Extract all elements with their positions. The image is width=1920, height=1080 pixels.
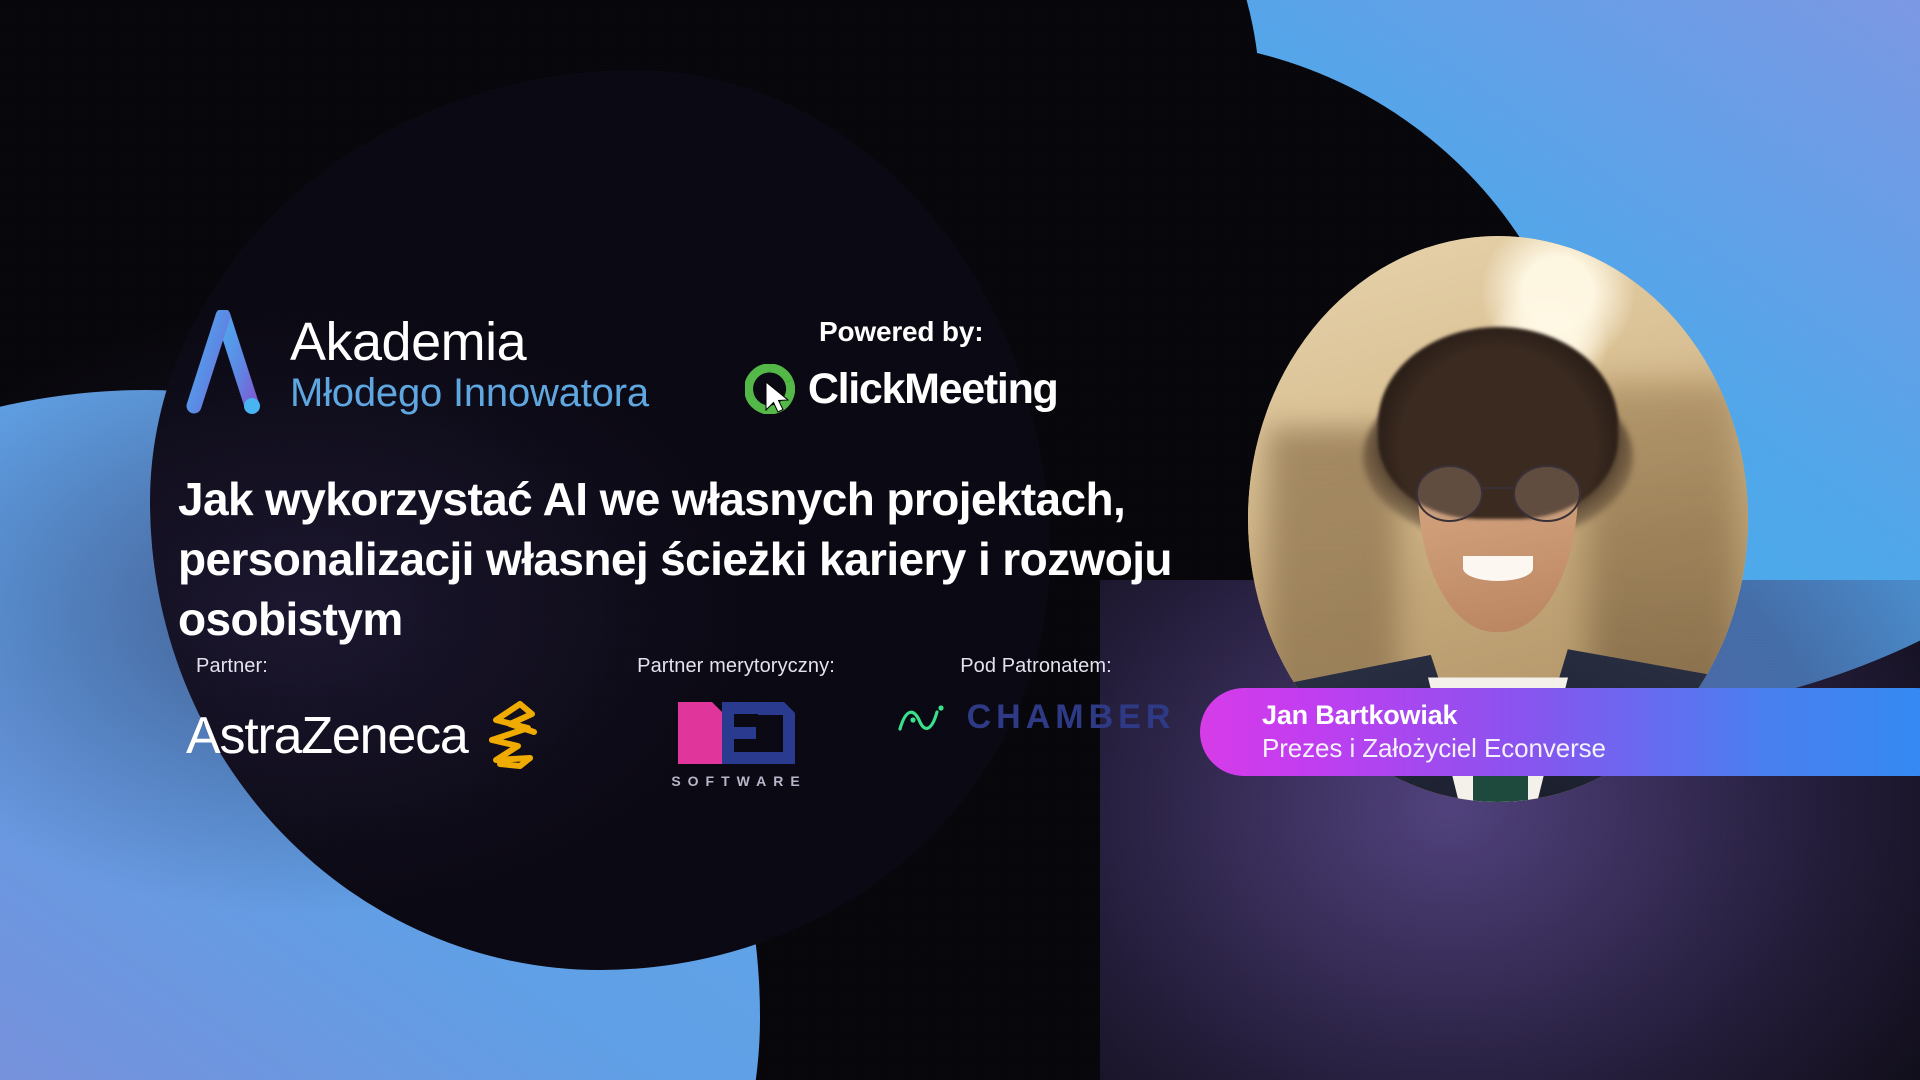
partners-row: Partner: AstraZeneca (186, 655, 1196, 789)
speaker-badge: Jan Bartkowiak Prezes i Założyciel Econv… (1200, 688, 1920, 776)
akademia-subtitle: Młodego Innowatora (290, 373, 649, 413)
akademia-a-mark-icon (182, 310, 270, 418)
partner-ai-chamber: Pod Patronatem: CHAMBER (886, 655, 1186, 737)
brand-row: Akademia Młodego Innowatora Powered by: … (182, 310, 1058, 418)
partner-label: Partner: (196, 655, 586, 678)
ded-software-logo: SOFTWARE (665, 698, 806, 789)
ai-chamber-wordmark: CHAMBER (967, 698, 1176, 737)
clickmeeting-cursor-icon (745, 364, 795, 414)
astrazeneca-ribbon-icon (470, 698, 540, 770)
page-title: Jak wykorzystać AI we własnych projektac… (178, 470, 1188, 649)
partner-ded-software: Partner merytoryczny: SOFTWARE (586, 655, 886, 789)
partner-label: Pod Patronatem: (960, 655, 1112, 678)
akademia-title: Akademia (290, 315, 649, 369)
speaker-name: Jan Bartkowiak (1262, 700, 1920, 732)
akademia-logo: Akademia Młodego Innowatora (182, 310, 649, 418)
partner-label: Partner merytoryczny: (637, 655, 835, 678)
ai-wave-icon (897, 702, 949, 734)
ai-chamber-logo: CHAMBER (897, 698, 1176, 737)
astrazeneca-wordmark: AstraZeneca (186, 710, 468, 762)
ded-software-tagline: SOFTWARE (671, 773, 806, 789)
clickmeeting-wordmark: ClickMeeting (808, 365, 1058, 414)
powered-by-label: Powered by: (819, 316, 983, 348)
powered-by-block: Powered by: ClickMeeting (745, 310, 1058, 414)
speaker-role: Prezes i Założyciel Econverse (1262, 733, 1920, 764)
astrazeneca-logo: AstraZeneca (186, 698, 540, 774)
clickmeeting-logo: ClickMeeting (745, 364, 1058, 414)
ded-monogram-icon (674, 698, 799, 768)
partner-astrazeneca: Partner: AstraZeneca (186, 655, 586, 774)
webinar-banner: Akademia Młodego Innowatora Powered by: … (0, 0, 1920, 1080)
